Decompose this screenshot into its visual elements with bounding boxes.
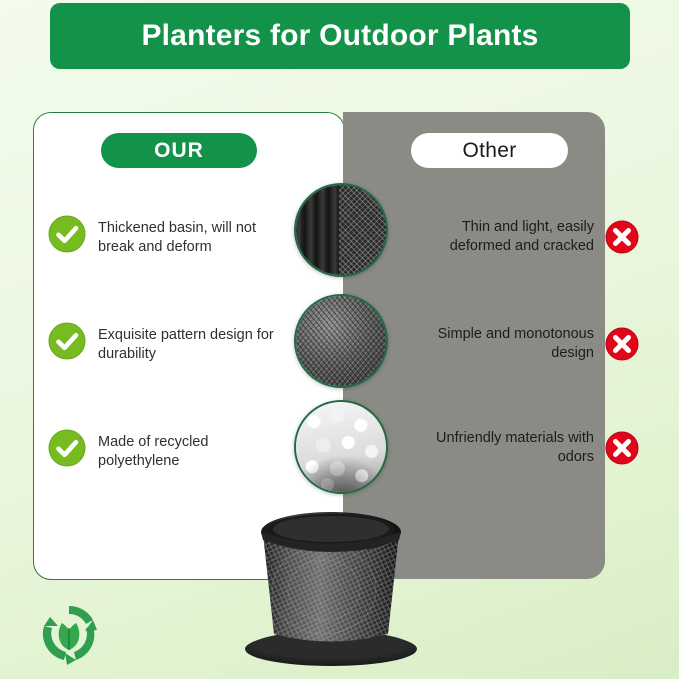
con-row: Thin and light, easily deformed and crac… [419,218,639,256]
con-row: Simple and monotonous design [419,325,639,363]
con-text: Thin and light, easily deformed and crac… [419,218,594,256]
check-circle-icon [48,215,86,253]
page-title: Planters for Outdoor Plants [141,19,538,53]
detail-photo-woven-pattern [294,294,388,388]
header-banner: Planters for Outdoor Plants [50,3,630,69]
texture-mesh [296,296,386,386]
x-circle-icon [605,431,639,465]
pro-row: Exquisite pattern design for durability [48,320,278,364]
con-text: Unfriendly materials with odors [419,429,594,467]
product-photo-planter [238,506,424,674]
pro-text: Made of recycled polyethylene [98,427,278,471]
pro-text: Exquisite pattern design for durability [98,320,278,364]
check-circle-icon [48,429,86,467]
detail-photo-thick-rim [294,183,388,277]
other-label-text: Other [462,139,516,163]
texture-pellets [296,402,386,492]
detail-photo-pellets [294,400,388,494]
texture-ribbed [296,185,386,275]
pro-text: Thickened basin, will not break and defo… [98,213,278,257]
x-circle-icon [605,220,639,254]
product-comparison-poster: Planters for Outdoor Plants OUR Other Th… [0,0,679,679]
recycle-leaf-icon [36,600,102,666]
con-row: Unfriendly materials with odors [419,429,639,467]
pro-row: Thickened basin, will not break and defo… [48,213,278,257]
other-label-pill: Other [411,133,568,168]
con-text: Simple and monotonous design [419,325,594,363]
pro-row: Made of recycled polyethylene [48,427,278,471]
our-label-pill: OUR [101,133,257,168]
our-label-text: OUR [154,139,204,163]
x-circle-icon [605,327,639,361]
check-circle-icon [48,322,86,360]
